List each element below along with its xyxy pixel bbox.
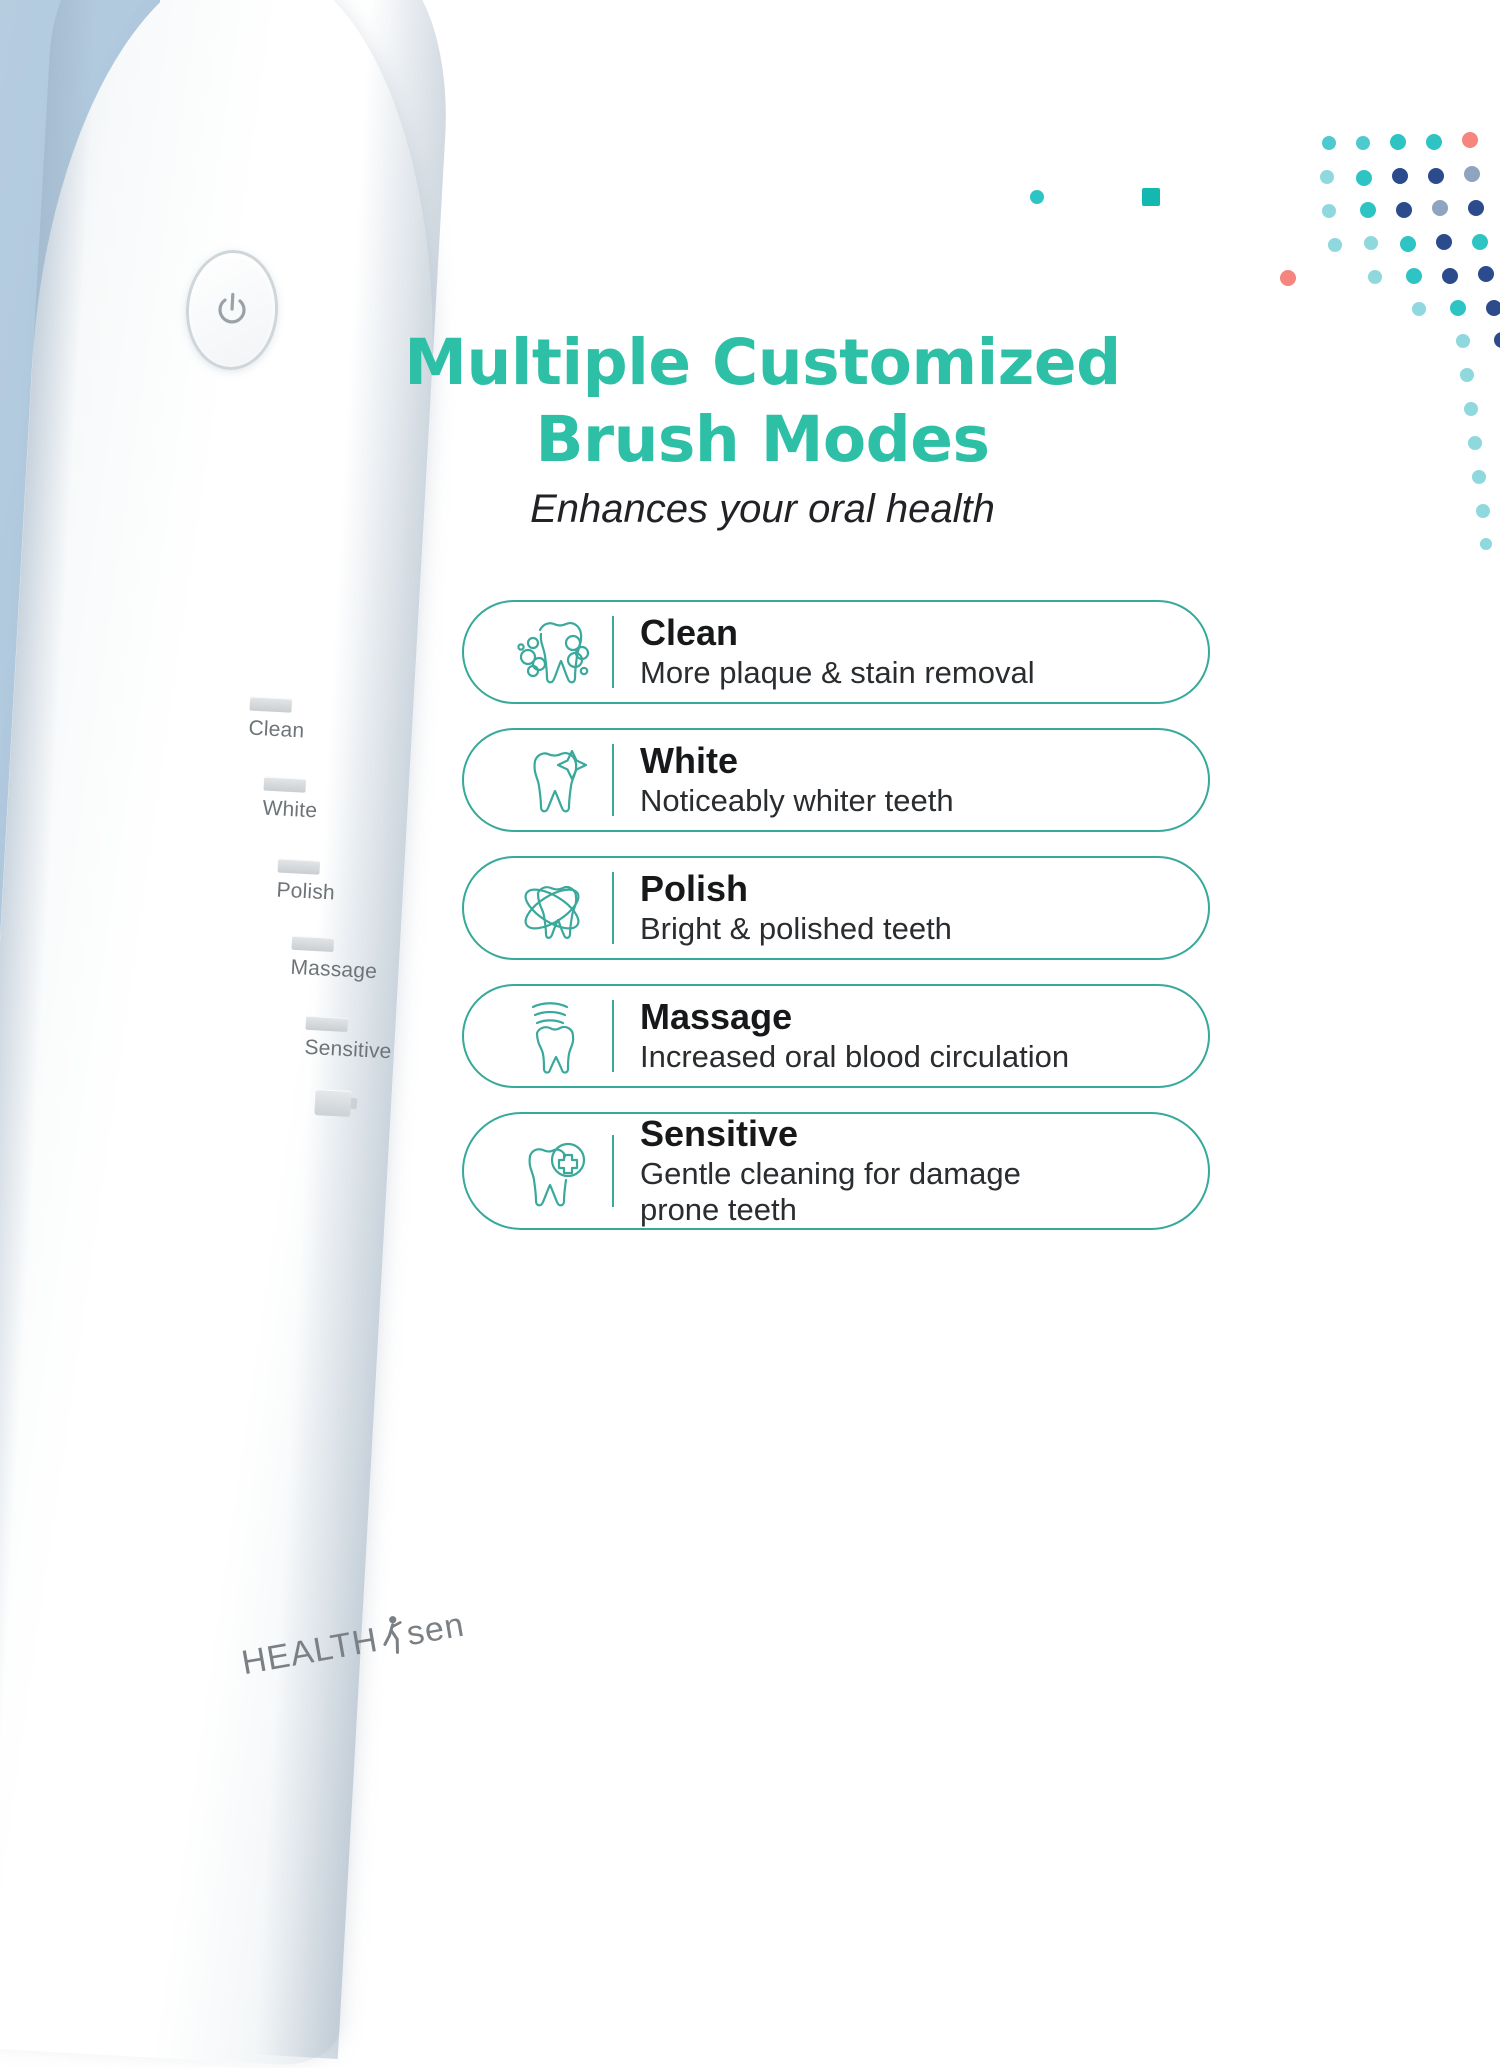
- power-icon: [211, 289, 253, 331]
- mode-card-sensitive[interactable]: Sensitive Gentle cleaning for damage pro…: [462, 1112, 1210, 1230]
- mode-card-clean[interactable]: Clean More plaque & stain removal: [462, 600, 1210, 704]
- led-item-massage: Massage: [290, 936, 379, 984]
- mode-title-sensitive: Sensitive: [640, 1114, 1176, 1154]
- mode-desc-massage: Increased oral blood circulation: [640, 1039, 1176, 1075]
- led-bar-icon: [249, 697, 292, 713]
- mode-desc-clean: More plaque & stain removal: [640, 655, 1176, 691]
- tooth-orbit-icon: [498, 866, 606, 950]
- card-divider: [612, 616, 614, 688]
- mode-desc-white: Noticeably whiter teeth: [640, 783, 1176, 819]
- mode-title-massage: Massage: [640, 997, 1176, 1037]
- card-divider: [612, 1000, 614, 1072]
- led-item-sensitive: Sensitive: [304, 1016, 393, 1064]
- mode-card-list: Clean More plaque & stain removal White …: [462, 600, 1210, 1254]
- page-subtitle: Enhances your oral health: [390, 487, 1135, 532]
- card-divider: [612, 744, 614, 816]
- card-text-massage: Massage Increased oral blood circulation: [640, 997, 1182, 1075]
- card-text-clean: Clean More plaque & stain removal: [640, 613, 1182, 691]
- mode-card-white[interactable]: White Noticeably whiter teeth: [462, 728, 1210, 832]
- tooth-cross-icon: [498, 1129, 606, 1213]
- mode-title-white: White: [640, 741, 1176, 781]
- led-item-white: White: [262, 777, 319, 824]
- battery-icon: [314, 1089, 351, 1117]
- led-label-polish: Polish: [276, 878, 336, 905]
- led-label-sensitive: Sensitive: [304, 1036, 392, 1065]
- mode-card-polish[interactable]: Polish Bright & polished teeth: [462, 856, 1210, 960]
- card-divider: [612, 872, 614, 944]
- led-bar-icon: [277, 859, 320, 875]
- mode-desc-polish: Bright & polished teeth: [640, 911, 1176, 947]
- card-text-white: White Noticeably whiter teeth: [640, 741, 1182, 819]
- card-divider: [612, 1135, 614, 1207]
- mode-title-polish: Polish: [640, 869, 1176, 909]
- mode-desc-sensitive: Gentle cleaning for damage prone teeth: [640, 1156, 1176, 1228]
- card-text-sensitive: Sensitive Gentle cleaning for damage pro…: [640, 1114, 1182, 1228]
- mode-title-clean: Clean: [640, 613, 1176, 653]
- tooth-waves-icon: [498, 994, 606, 1078]
- tooth-sparkle-icon: [498, 738, 606, 822]
- led-bar-icon: [291, 936, 334, 952]
- led-bar-icon: [305, 1016, 348, 1032]
- mode-card-massage[interactable]: Massage Increased oral blood circulation: [462, 984, 1210, 1088]
- tooth-bubbles-icon: [498, 610, 606, 694]
- mode-desc-sensitive-line1: Gentle cleaning for damage: [640, 1156, 1021, 1191]
- headline-line-1: Multiple Customized: [390, 325, 1135, 402]
- led-label-white: White: [262, 797, 318, 824]
- led-item-clean: Clean: [248, 697, 306, 744]
- led-item-polish: Polish: [276, 859, 337, 906]
- led-bar-icon: [263, 777, 306, 793]
- card-text-polish: Polish Bright & polished teeth: [640, 869, 1182, 947]
- page-title: Multiple Customized Brush Modes: [390, 325, 1135, 479]
- led-label-massage: Massage: [290, 956, 378, 985]
- mode-desc-sensitive-line2: prone teeth: [640, 1192, 797, 1227]
- led-label-clean: Clean: [248, 717, 305, 744]
- content-panel: Multiple Customized Brush Modes Enhances…: [390, 0, 1500, 2000]
- headline-line-2: Brush Modes: [390, 402, 1135, 479]
